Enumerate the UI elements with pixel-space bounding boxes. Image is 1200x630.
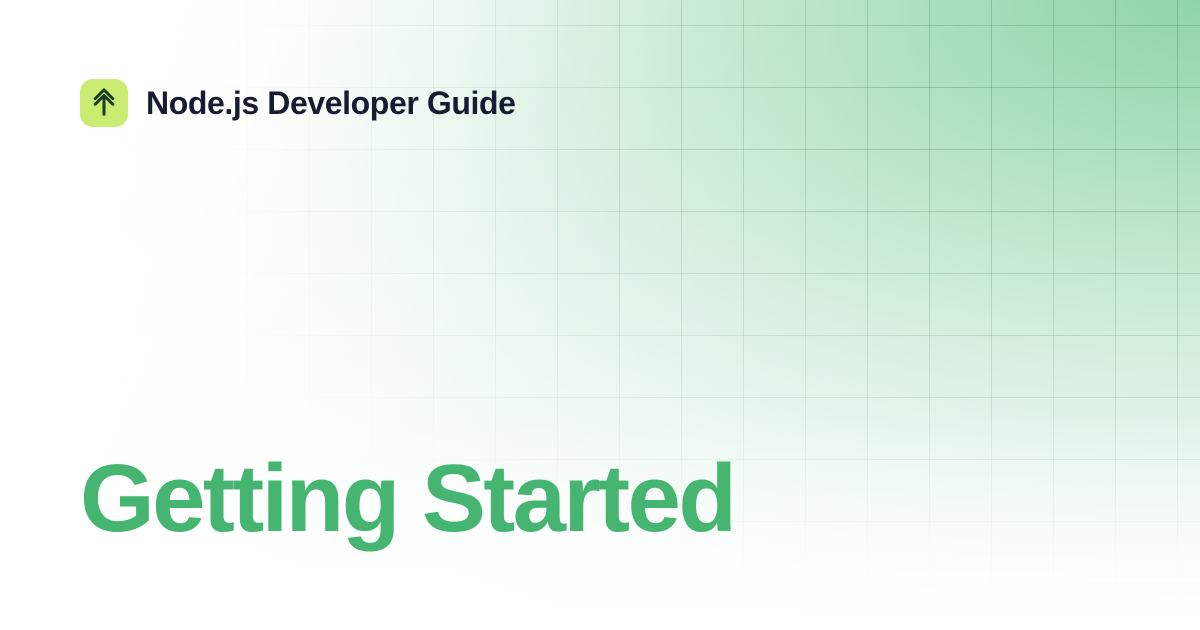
brand-logo-badge [80, 79, 128, 127]
card-content: Node.js Developer Guide Getting Started [0, 0, 1200, 630]
brand: Node.js Developer Guide [80, 79, 516, 127]
og-card: Node.js Developer Guide Getting Started [0, 0, 1200, 630]
brand-title: Node.js Developer Guide [146, 87, 516, 119]
page-title: Getting Started [80, 449, 734, 550]
arrow-up-tree-icon [89, 88, 119, 118]
